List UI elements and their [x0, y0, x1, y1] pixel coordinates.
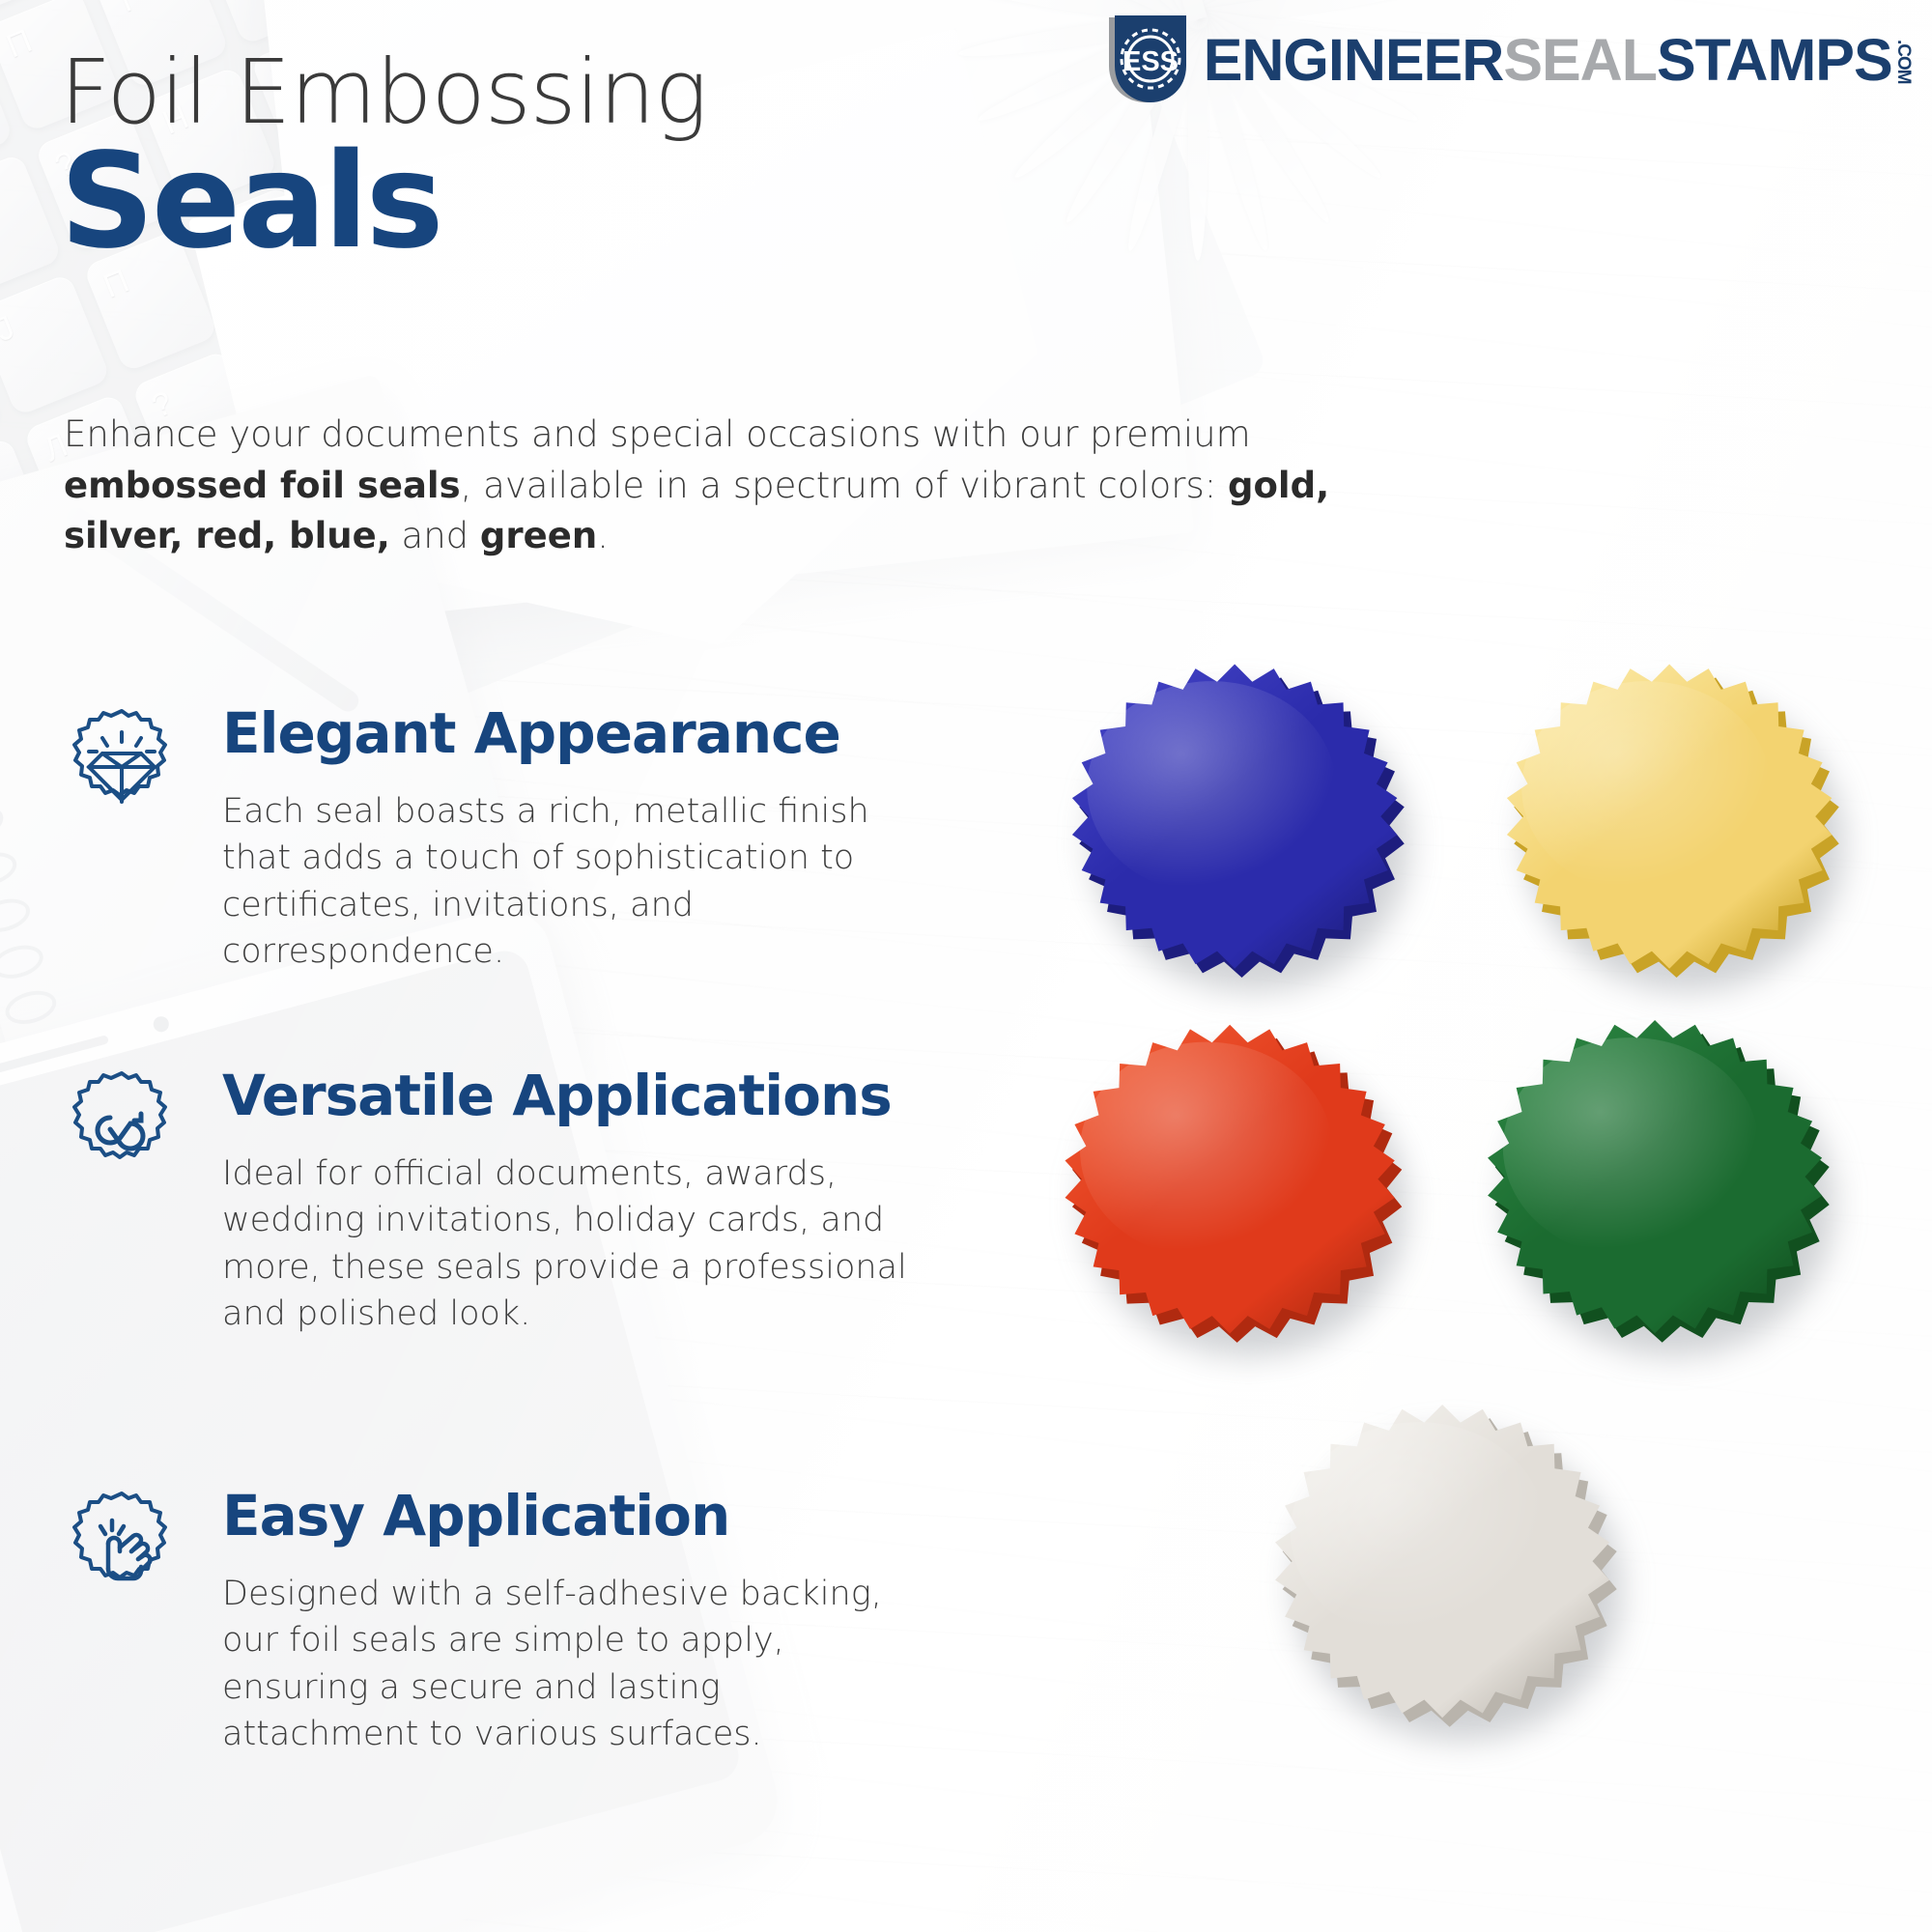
foil-seal-gold [1488, 649, 1855, 987]
intro-part1: Enhance your documents and special occas… [64, 413, 1251, 455]
infinity-badge-icon [60, 1067, 184, 1191]
svg-text:ESS: ESS [1122, 46, 1179, 77]
feature-heading: Easy Application [222, 1488, 910, 1544]
logo-word-seal: SEAL [1503, 35, 1657, 85]
seal-sheen [1087, 681, 1336, 895]
intro-part4: . [597, 515, 609, 556]
intro-part2: , available in a spectrum of vibrant col… [461, 465, 1228, 506]
foil-seal-blue [1053, 649, 1420, 987]
intro-part3: and [390, 515, 480, 556]
brand-logo[interactable]: ESS ENGINEER SEAL STAMPS .COM [1101, 14, 1911, 106]
feature-body: Ideal for official documents, awards, we… [222, 1151, 918, 1337]
ess-shield-icon: ESS [1101, 14, 1190, 106]
seal-sheen [1291, 1422, 1547, 1641]
seal-silver-shape [1261, 1389, 1628, 1737]
foil-seal-green [1473, 1005, 1840, 1352]
logo-word-stamps: STAMPS [1657, 35, 1892, 85]
feature-elegant-appearance: Elegant Appearance Each seal boasts a ri… [60, 705, 910, 975]
feature-body: Each seal boasts a rich, metallic finish… [222, 788, 918, 975]
foil-seal-red [1048, 1009, 1415, 1352]
logo-word-tld: .COM [1895, 40, 1911, 84]
foil-seal-silver [1261, 1389, 1628, 1737]
diamond-badge-icon [60, 705, 184, 829]
seal-blue-shape [1053, 649, 1420, 987]
infographic-page: КДЛ?НМЬ/РВИбdtionJПТОЦУЖЭФЫКДЛ?НМЬ/РВИбd… [0, 0, 1932, 1932]
feature-versatile-applications: Versatile Applications Ideal for officia… [60, 1067, 910, 1337]
seal-sheen [1521, 681, 1771, 895]
seal-red-shape [1048, 1009, 1415, 1352]
seal-sheen [1080, 1042, 1333, 1259]
feature-body: Designed with a self-adhesive backing, o… [222, 1571, 918, 1757]
feature-heading: Versatile Applications [222, 1067, 910, 1123]
page-title-line2: Seals [60, 126, 441, 278]
feature-easy-application: Easy Application Designed with a self-ad… [60, 1488, 910, 1757]
intro-paragraph: Enhance your documents and special occas… [64, 410, 1416, 562]
tap-hand-badge-icon [60, 1488, 184, 1611]
seal-green-shape [1473, 1005, 1840, 1352]
intro-bold-green: green [480, 515, 597, 556]
feature-heading: Elegant Appearance [222, 705, 910, 761]
seal-gold-shape [1488, 649, 1855, 987]
logo-word-engineer: ENGINEER [1204, 35, 1504, 85]
seal-sheen [1503, 1037, 1759, 1257]
intro-bold-embossed-foil-seals: embossed foil seals [64, 465, 461, 506]
